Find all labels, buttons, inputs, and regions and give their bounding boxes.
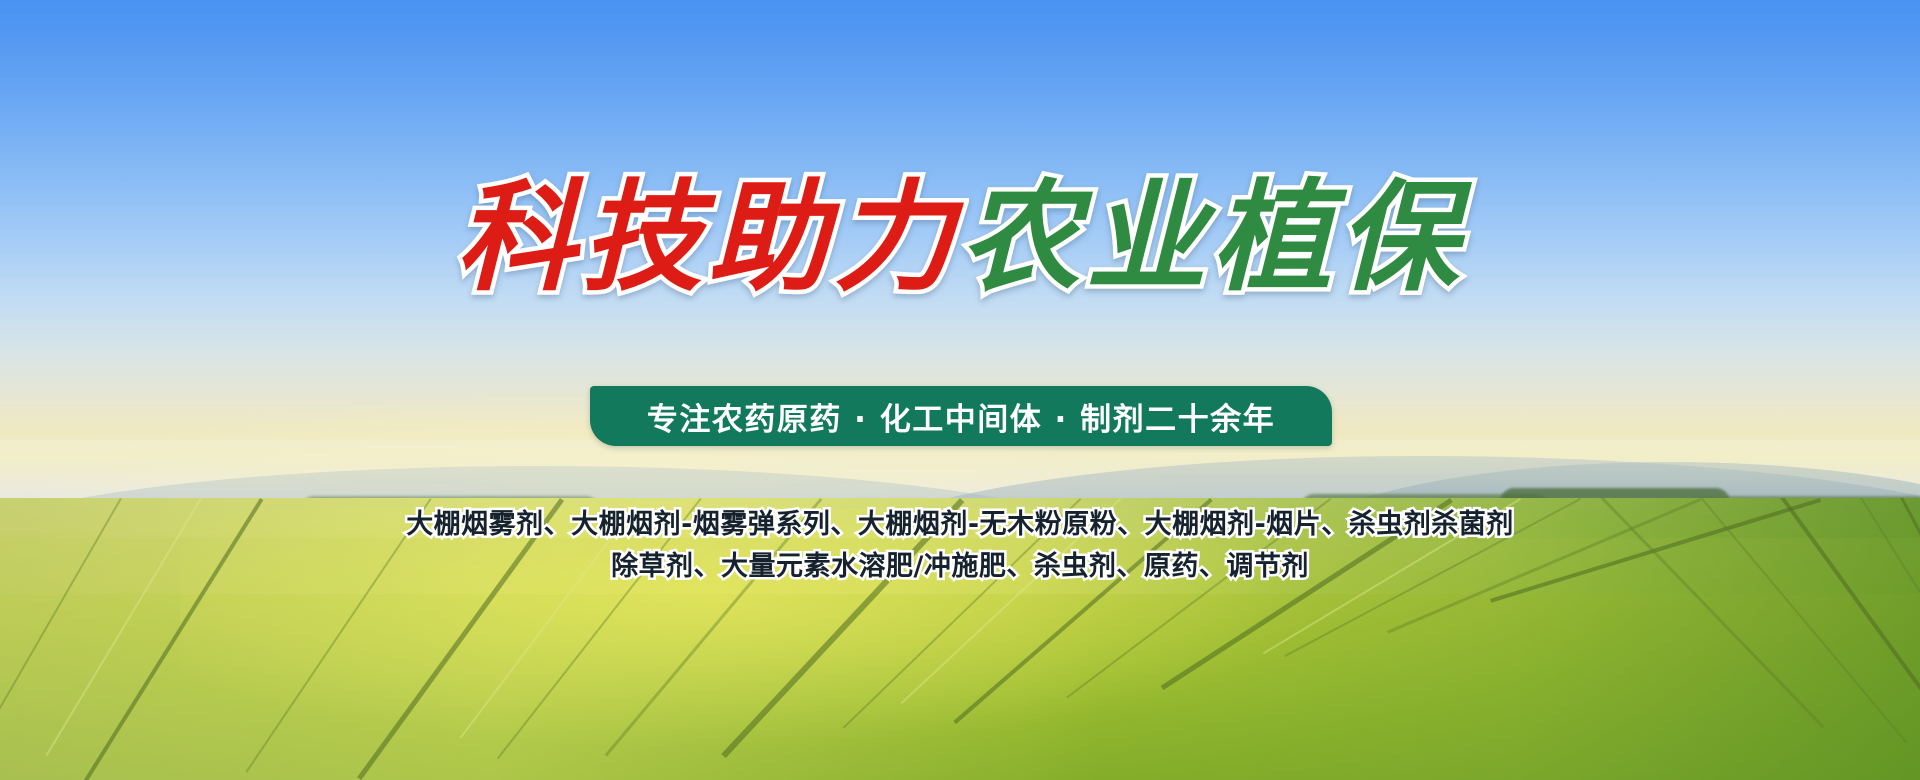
product-line-2: 除草剂、大量元素水溶肥/冲施肥、杀虫剂、原药、调节剂: [0, 547, 1920, 587]
hero-banner: 科技助力农业植保 专注农药原药 · 化工中间体 · 制剂二十余年 大棚烟雾剂、大…: [0, 0, 1920, 780]
tagline-badge: 专注农药原药 · 化工中间体 · 制剂二十余年: [590, 386, 1332, 446]
product-line-1: 大棚烟雾剂、大棚烟剂-烟雾弹系列、大棚烟剂-无木粉原粉、大棚烟剂-烟片、杀虫剂杀…: [0, 505, 1920, 545]
title-part-green: 农业植保: [960, 178, 1464, 298]
title-part-red: 科技助力: [456, 178, 960, 298]
tagline-text: 专注农药原药 · 化工中间体 · 制剂二十余年: [647, 394, 1275, 439]
product-list: 大棚烟雾剂、大棚烟剂-烟雾弹系列、大棚烟剂-无木粉原粉、大棚烟剂-烟片、杀虫剂杀…: [0, 505, 1920, 587]
page-title: 科技助力农业植保: [0, 178, 1920, 298]
